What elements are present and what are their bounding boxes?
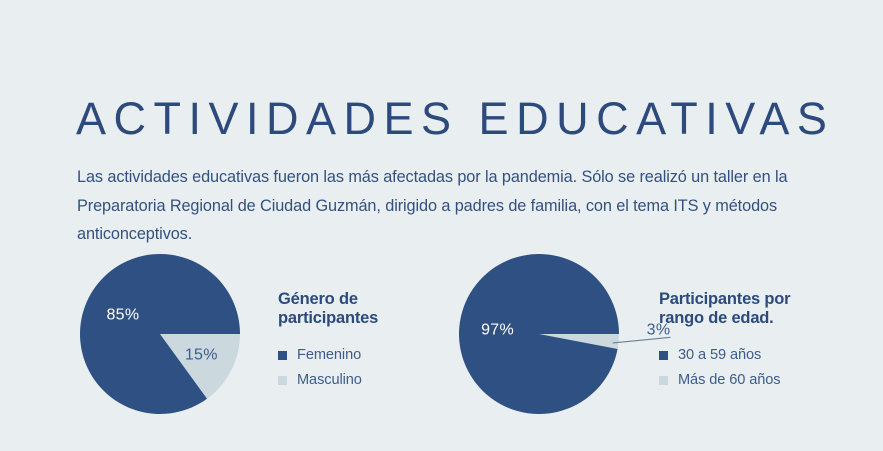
pie-chart-gender: 85%15% [78, 252, 242, 416]
pie-slice-label: 85% [106, 306, 139, 323]
body-paragraph: Las actividades educativas fueron las má… [77, 163, 817, 249]
pie-slice-label: 15% [185, 346, 218, 363]
legend-swatch-icon [278, 351, 287, 360]
legend-item-label: Femenino [297, 347, 361, 364]
legend-age: Participantes por rango de edad. 30 a 59… [659, 290, 849, 397]
pie-chart-gender-svg: 85%15% [78, 252, 242, 416]
page-title: ACTIVIDADES EDUCATIVAS [76, 93, 834, 145]
legend-item-label: Masculino [297, 372, 362, 389]
legend-item-label: Más de 60 años [678, 372, 780, 389]
legend-swatch-icon [659, 351, 668, 360]
pie-slices-gender [80, 254, 240, 414]
legend-title-age: Participantes por rango de edad. [659, 290, 849, 328]
pie-slice-label: 97% [481, 321, 514, 338]
legend-item[interactable]: Masculino [278, 372, 453, 389]
legend-swatch-icon [278, 376, 287, 385]
legend-item-label: 30 a 59 años [678, 347, 761, 364]
legend-item[interactable]: 30 a 59 años [659, 347, 849, 364]
legend-item[interactable]: Más de 60 años [659, 372, 849, 389]
legend-swatch-icon [659, 376, 668, 385]
legend-gender: Género de participantes Femenino Masculi… [278, 290, 453, 397]
legend-item[interactable]: Femenino [278, 347, 453, 364]
pie-chart-age-svg: 97%3% [457, 252, 621, 416]
pie-chart-age: 97%3% [457, 252, 621, 416]
legend-title-gender: Género de participantes [278, 290, 453, 328]
slide-canvas: ACTIVIDADES EDUCATIVAS Las actividades e… [0, 0, 883, 451]
